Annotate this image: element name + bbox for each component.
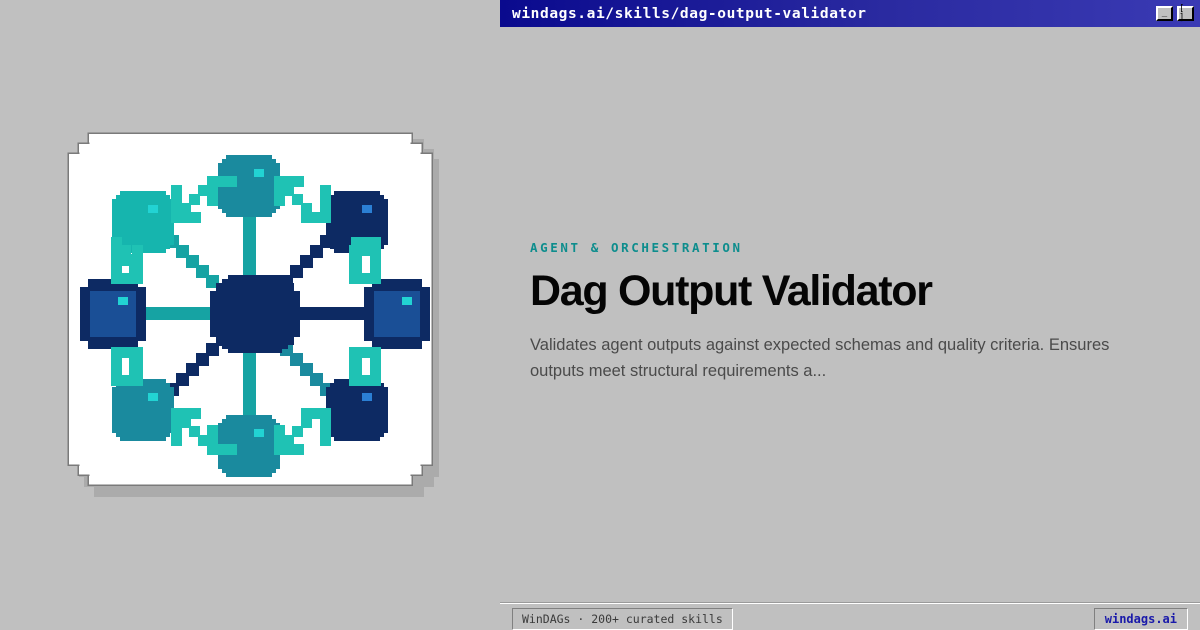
window-controls: _ [ ] (1156, 6, 1194, 21)
window-title: windags.ai/skills/dag-output-validator (512, 6, 1156, 22)
node-bottom-left-highlight (148, 393, 158, 401)
node-center-hub (210, 275, 300, 353)
status-badge: WinDAGs · 200+ curated skills (512, 608, 733, 630)
node-left-highlight (118, 297, 128, 305)
node-right (364, 279, 430, 349)
node-bottom-right (326, 379, 388, 441)
maximize-button[interactable]: [ ] (1177, 6, 1194, 21)
node-left (80, 279, 146, 349)
node-bottom-highlight (254, 429, 264, 437)
skill-artwork-card (60, 125, 450, 505)
node-top-highlight (254, 169, 264, 177)
skill-detail-content: AGENT & ORCHESTRATION Dag Output Validat… (530, 240, 1150, 384)
footer-divider (500, 602, 1200, 604)
window-titlebar: windags.ai/skills/dag-output-validator _… (500, 0, 1200, 27)
node-bottom-right-highlight (362, 393, 372, 401)
minimize-button[interactable]: _ (1156, 6, 1173, 21)
brand-badge[interactable]: windags.ai (1094, 608, 1188, 630)
node-top-left-highlight (148, 205, 158, 213)
footer-bar: WinDAGs · 200+ curated skills windags.ai (500, 608, 1200, 630)
category-eyebrow: AGENT & ORCHESTRATION (530, 240, 1150, 255)
dag-network-icon (60, 125, 450, 505)
node-right-highlight (402, 297, 412, 305)
node-top-right-highlight (362, 205, 372, 213)
node-bottom-left (112, 379, 174, 441)
page-title: Dag Output Validator (530, 269, 1150, 314)
skill-description: Validates agent outputs against expected… (530, 332, 1140, 384)
